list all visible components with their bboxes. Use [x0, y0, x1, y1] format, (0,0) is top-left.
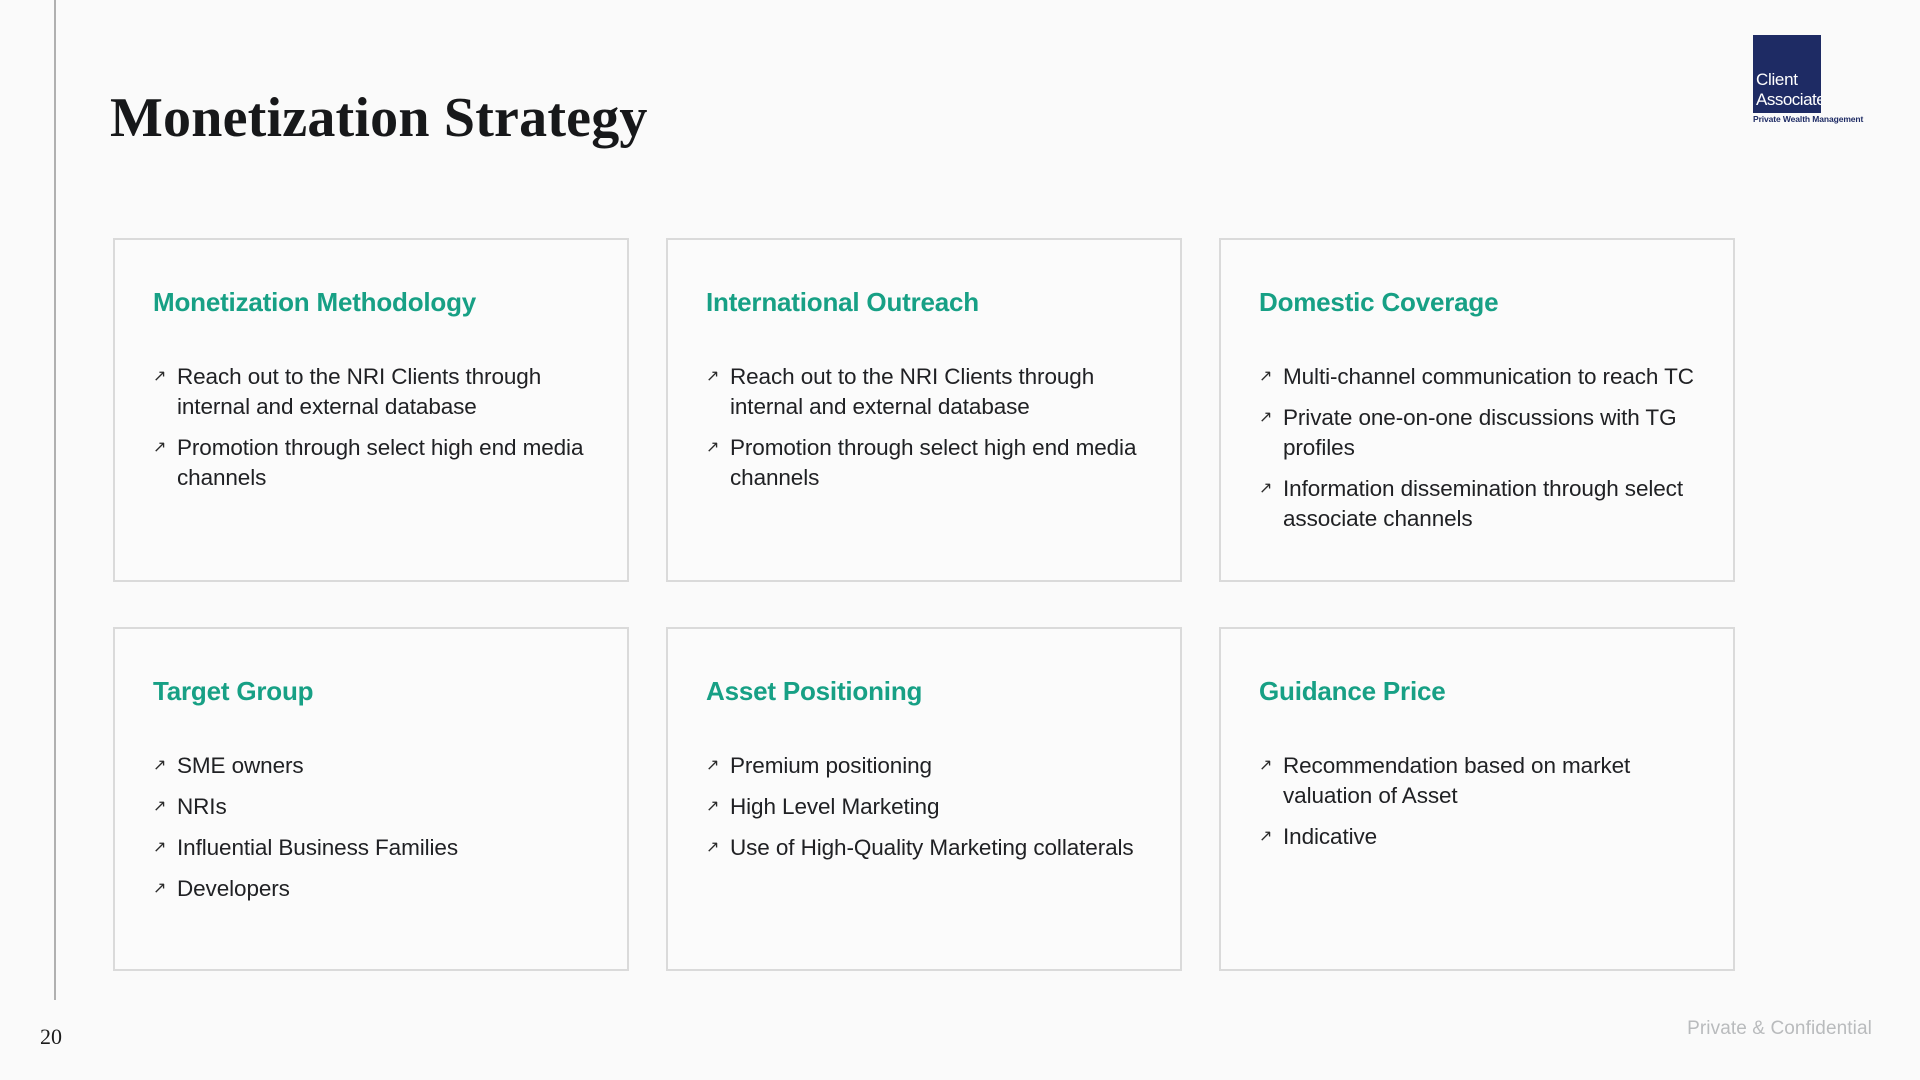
arrow-up-right-icon: ↗ — [1259, 403, 1273, 433]
arrow-up-right-icon: ↗ — [706, 433, 720, 463]
logo-text-client: Client — [1756, 71, 1798, 88]
card-title: Asset Positioning — [706, 677, 1146, 707]
bullet-text: Reach out to the NRI Clients through int… — [177, 362, 593, 422]
arrow-up-right-icon: ↗ — [153, 433, 167, 463]
content-card: Guidance Price↗Recommendation based on m… — [1219, 627, 1735, 971]
bullet-text: Reach out to the NRI Clients through int… — [730, 362, 1146, 422]
logo-mark: Client Associates — [1753, 35, 1821, 113]
card-title: Monetization Methodology — [153, 288, 593, 318]
bullet-text: Promotion through select high end media … — [177, 433, 593, 493]
list-item: ↗Multi-channel communication to reach TC — [1259, 362, 1699, 392]
brand-logo: Client Associates Private Wealth Managem… — [1753, 35, 1821, 124]
confidentiality-notice: Private & Confidential — [1687, 1019, 1872, 1038]
logo-tagline: Private Wealth Management — [1753, 114, 1821, 124]
card-title: Guidance Price — [1259, 677, 1699, 707]
card-title: International Outreach — [706, 288, 1146, 318]
list-item: ↗Recommendation based on market valuatio… — [1259, 751, 1699, 811]
bullet-text: Use of High-Quality Marketing collateral… — [730, 833, 1134, 863]
bullet-text: Private one-on-one discussions with TG p… — [1283, 403, 1699, 463]
list-item: ↗Reach out to the NRI Clients through in… — [153, 362, 593, 422]
arrow-up-right-icon: ↗ — [153, 874, 167, 904]
bullet-list: ↗Reach out to the NRI Clients through in… — [706, 362, 1146, 493]
list-item: ↗NRIs — [153, 792, 593, 822]
list-item: ↗Information dissemination through selec… — [1259, 474, 1699, 534]
bullet-text: Promotion through select high end media … — [730, 433, 1146, 493]
list-item: ↗Promotion through select high end media… — [706, 433, 1146, 493]
arrow-up-right-icon: ↗ — [706, 751, 720, 781]
arrow-up-right-icon: ↗ — [1259, 822, 1273, 852]
arrow-up-right-icon: ↗ — [1259, 751, 1273, 781]
list-item: ↗SME owners — [153, 751, 593, 781]
bullet-text: Indicative — [1283, 822, 1377, 852]
content-card: Asset Positioning↗Premium positioning↗Hi… — [666, 627, 1182, 971]
bullet-text: Multi-channel communication to reach TC — [1283, 362, 1694, 392]
arrow-up-right-icon: ↗ — [706, 833, 720, 863]
bullet-text: Influential Business Families — [177, 833, 458, 863]
content-card: International Outreach↗Reach out to the … — [666, 238, 1182, 582]
bullet-list: ↗Premium positioning↗High Level Marketin… — [706, 751, 1146, 863]
list-item: ↗Reach out to the NRI Clients through in… — [706, 362, 1146, 422]
bullet-list: ↗Reach out to the NRI Clients through in… — [153, 362, 593, 493]
arrow-up-right-icon: ↗ — [706, 792, 720, 822]
arrow-up-right-icon: ↗ — [1259, 362, 1273, 392]
bullet-text: NRIs — [177, 792, 227, 822]
list-item: ↗Indicative — [1259, 822, 1699, 852]
list-item: ↗High Level Marketing — [706, 792, 1146, 822]
list-item: ↗Developers — [153, 874, 593, 904]
bullet-text: High Level Marketing — [730, 792, 939, 822]
page-number: 20 — [40, 1026, 62, 1048]
bullet-text: Developers — [177, 874, 290, 904]
bullet-list: ↗SME owners↗NRIs↗Influential Business Fa… — [153, 751, 593, 904]
content-card: Monetization Methodology↗Reach out to th… — [113, 238, 629, 582]
list-item: ↗Use of High-Quality Marketing collatera… — [706, 833, 1146, 863]
page-title: Monetization Strategy — [110, 88, 648, 150]
list-item: ↗Premium positioning — [706, 751, 1146, 781]
left-accent-rule — [54, 0, 56, 1000]
arrow-up-right-icon: ↗ — [706, 362, 720, 392]
bullet-list: ↗Multi-channel communication to reach TC… — [1259, 362, 1699, 534]
card-title: Domestic Coverage — [1259, 288, 1699, 318]
content-card: Domestic Coverage↗Multi-channel communic… — [1219, 238, 1735, 582]
content-card: Target Group↗SME owners↗NRIs↗Influential… — [113, 627, 629, 971]
arrow-up-right-icon: ↗ — [153, 362, 167, 392]
bullet-text: Premium positioning — [730, 751, 932, 781]
arrow-up-right-icon: ↗ — [153, 751, 167, 781]
arrow-up-right-icon: ↗ — [153, 833, 167, 863]
bullet-list: ↗Recommendation based on market valuatio… — [1259, 751, 1699, 852]
arrow-up-right-icon: ↗ — [153, 792, 167, 822]
bullet-text: Information dissemination through select… — [1283, 474, 1699, 534]
arrow-up-right-icon: ↗ — [1259, 474, 1273, 504]
list-item: ↗Promotion through select high end media… — [153, 433, 593, 493]
bullet-text: Recommendation based on market valuation… — [1283, 751, 1699, 811]
bullet-text: SME owners — [177, 751, 304, 781]
card-grid: Monetization Methodology↗Reach out to th… — [113, 238, 1807, 971]
list-item: ↗Private one-on-one discussions with TG … — [1259, 403, 1699, 463]
list-item: ↗Influential Business Families — [153, 833, 593, 863]
logo-text-associates: Associates — [1756, 91, 1821, 108]
card-title: Target Group — [153, 677, 593, 707]
